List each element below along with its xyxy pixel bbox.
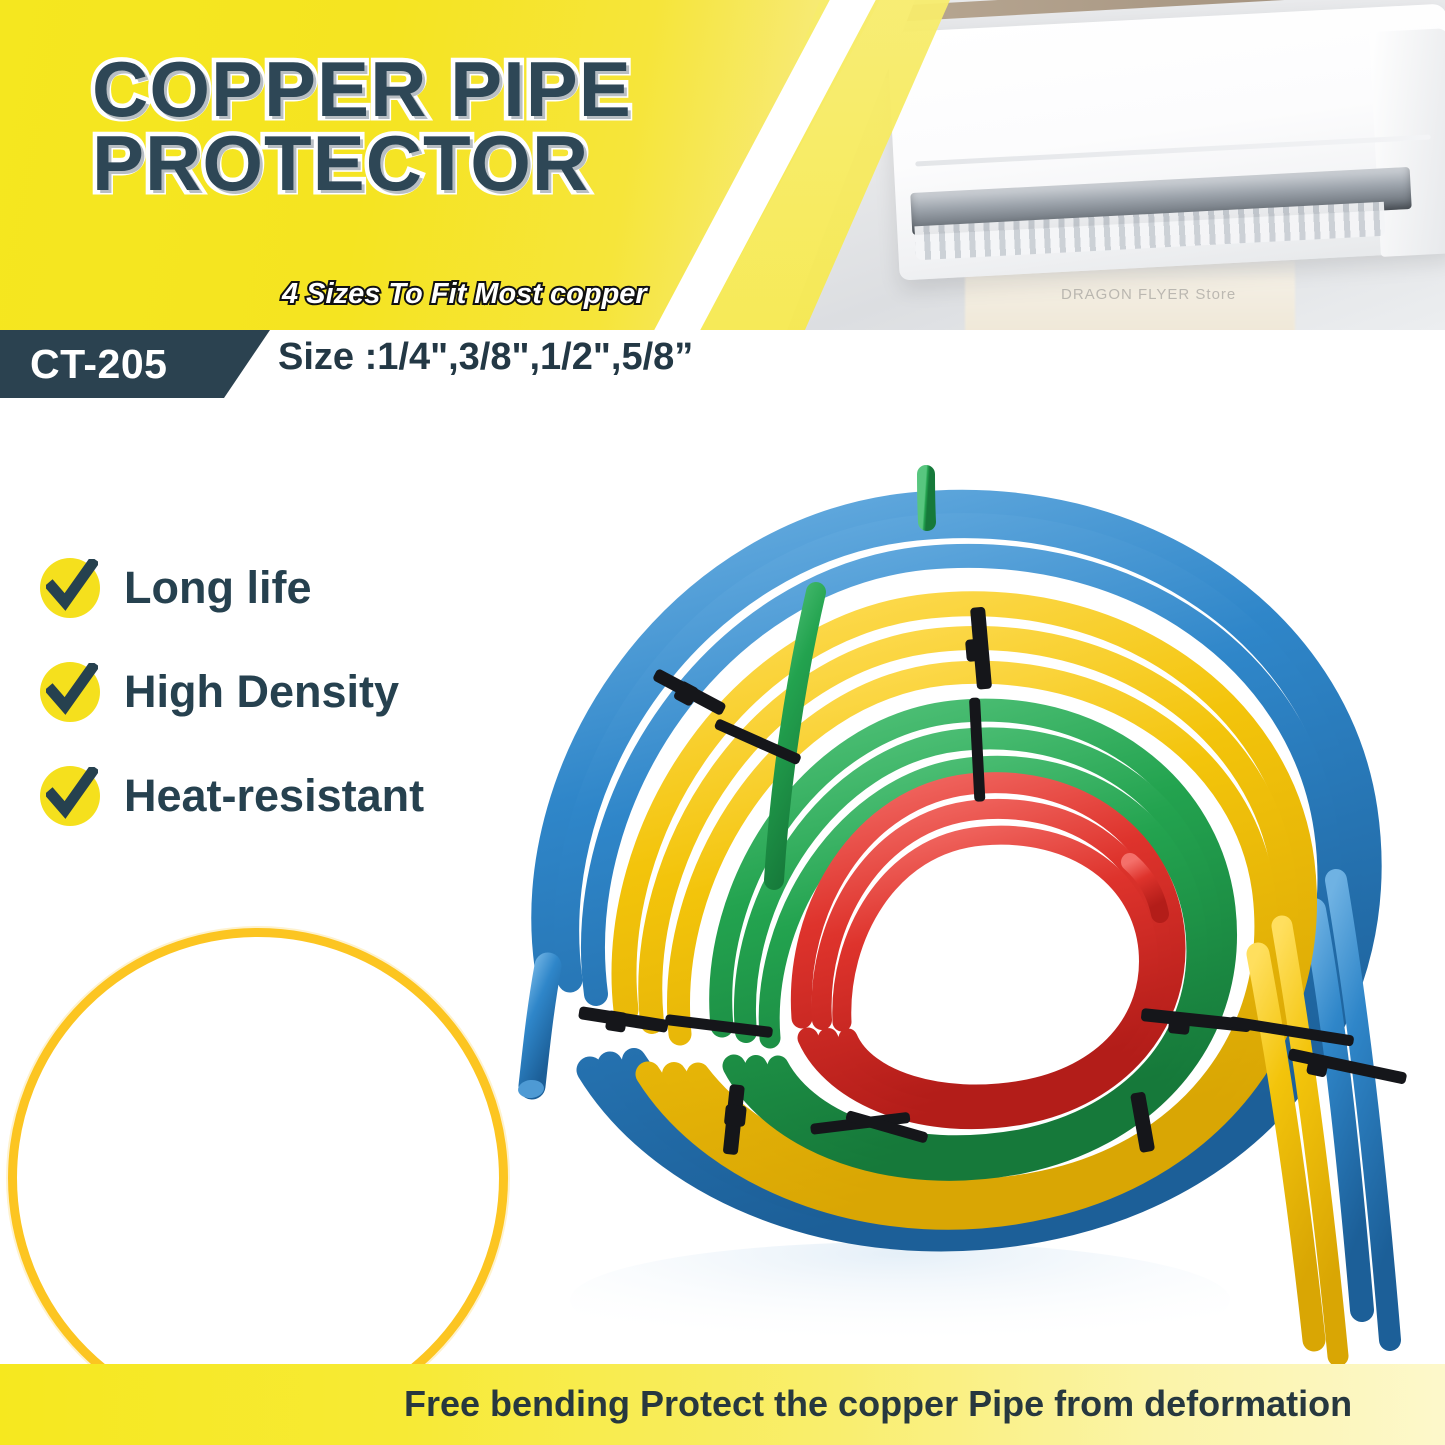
title-line-2: PROTECTOR [92,126,792,200]
check-icon [40,766,100,826]
inset-yellow-ring [8,928,508,1428]
check-icon [40,662,100,722]
header-subtitle: 4 Sizes To Fit Most copper [282,278,647,311]
model-code-badge: CT-205 [0,330,270,398]
title-line-1: COPPER PIPE [92,52,792,126]
header-banner: DRAGON FLYER Store COPPER PIPE PROTECTOR… [0,0,1445,330]
coiled-pipe-protector-tubes-photo [430,410,1445,1370]
product-marketing-image: DRAGON FLYER Store COPPER PIPE PROTECTOR… [0,0,1445,1445]
feature-label: Heat-resistant [124,770,424,822]
photo-reflection [570,1242,1230,1358]
bottom-caption-text: Free bending Protect the copper Pipe fro… [404,1383,1352,1425]
feature-label: High Density [124,666,399,718]
check-icon [40,558,100,618]
model-badge-row: CT-205 Size :1/4",3/8",1/2",5/8” [0,330,1445,398]
page-title: COPPER PIPE PROTECTOR [92,52,792,200]
model-code-label: CT-205 [30,341,167,388]
red-tube-coil [801,783,1175,1119]
feature-label: Long life [124,562,311,614]
size-label: Size :1/4",3/8",1/2",5/8” [278,336,693,379]
hand-bending-copper-pipe-photo [8,928,508,1428]
photo-watermark: DRAGON FLYER Store [1061,286,1236,303]
